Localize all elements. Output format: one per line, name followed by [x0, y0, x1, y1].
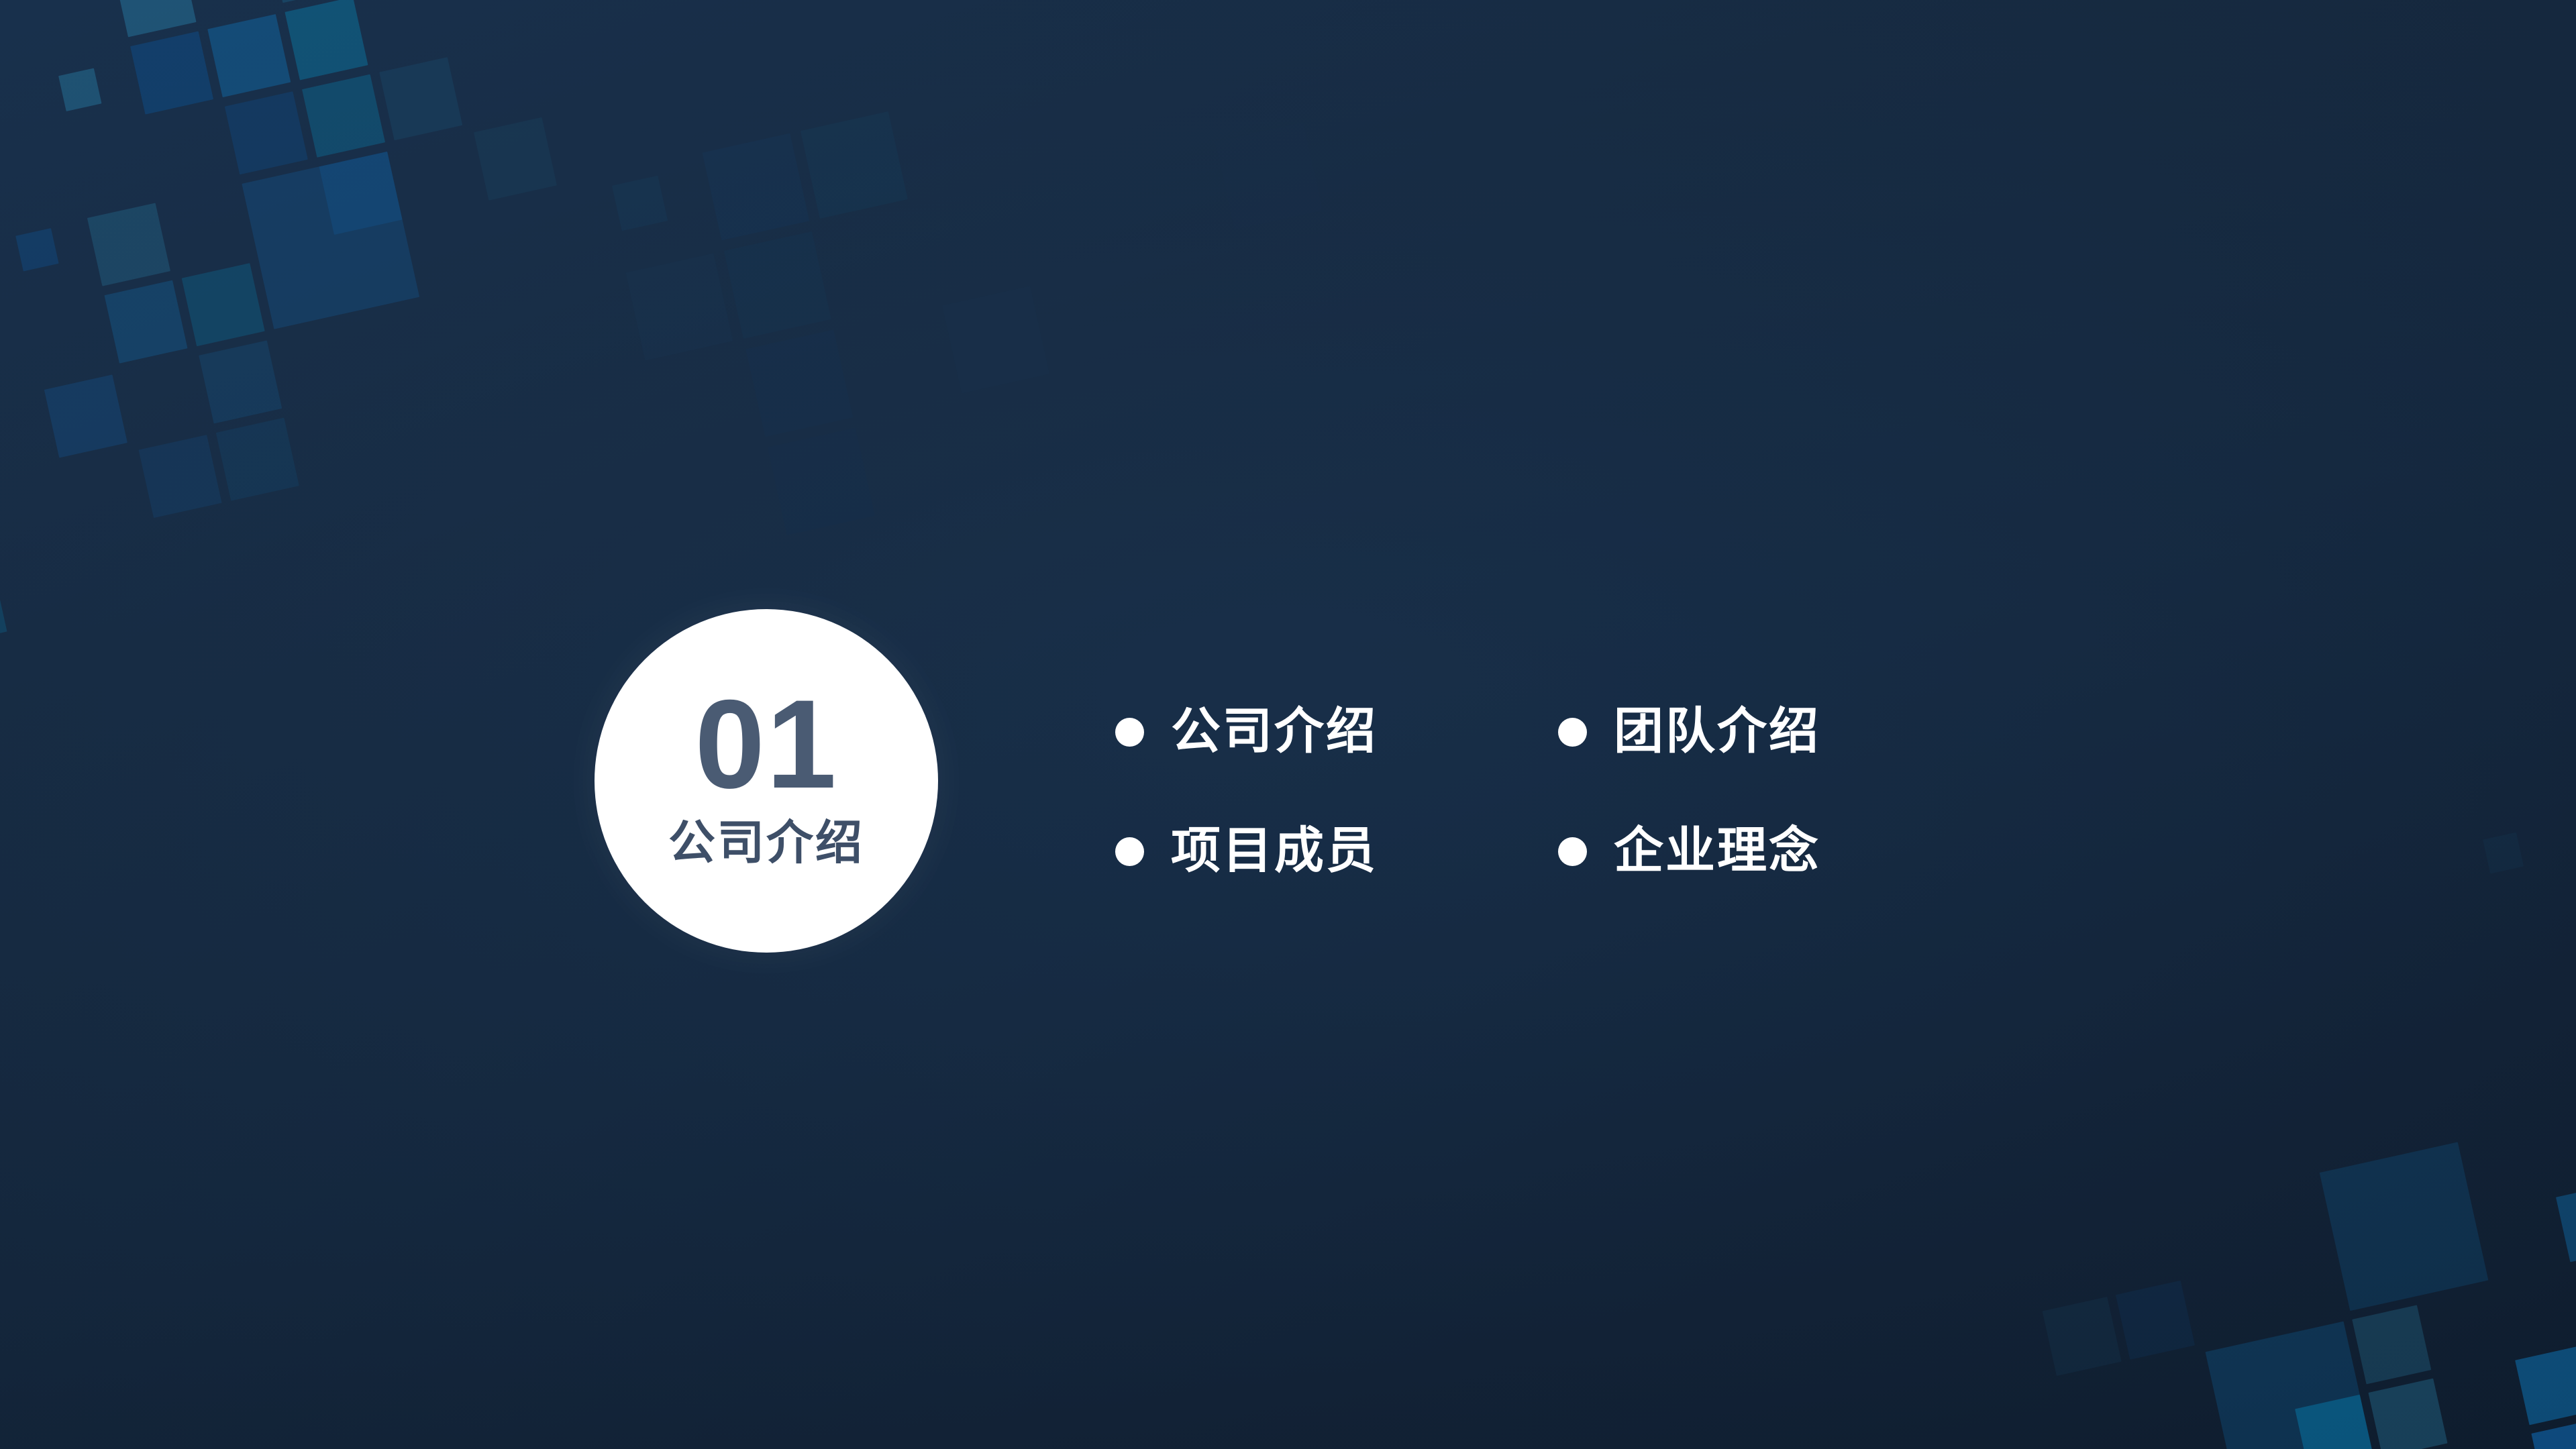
section-number: 01 [694, 686, 837, 802]
agenda-item-label: 公司介绍 [1171, 706, 1378, 756]
section-number-badge: 01 公司介绍 [595, 609, 938, 953]
agenda-item[interactable]: 团队介绍 [1558, 698, 2001, 765]
slide-content: 01 公司介绍 公司介绍 团队介绍 项目成员 企业理念 [0, 0, 2576, 1449]
agenda-item[interactable]: 企业理念 [1558, 817, 2001, 884]
agenda-item[interactable]: 项目成员 [1115, 817, 1558, 884]
dot-bullet-icon [1558, 837, 1587, 866]
slide-canvas: 01 公司介绍 公司介绍 团队介绍 项目成员 企业理念 [0, 0, 2576, 1449]
agenda-item-label: 团队介绍 [1614, 706, 1820, 756]
agenda-item-label: 项目成员 [1171, 826, 1378, 875]
dot-bullet-icon [1115, 837, 1144, 866]
agenda-item[interactable]: 公司介绍 [1115, 698, 1558, 765]
dot-bullet-icon [1115, 718, 1144, 747]
agenda-list: 公司介绍 团队介绍 项目成员 企业理念 [1115, 698, 2122, 936]
agenda-item-label: 企业理念 [1614, 826, 1820, 875]
dot-bullet-icon [1558, 718, 1587, 747]
section-title: 公司介绍 [668, 819, 864, 866]
